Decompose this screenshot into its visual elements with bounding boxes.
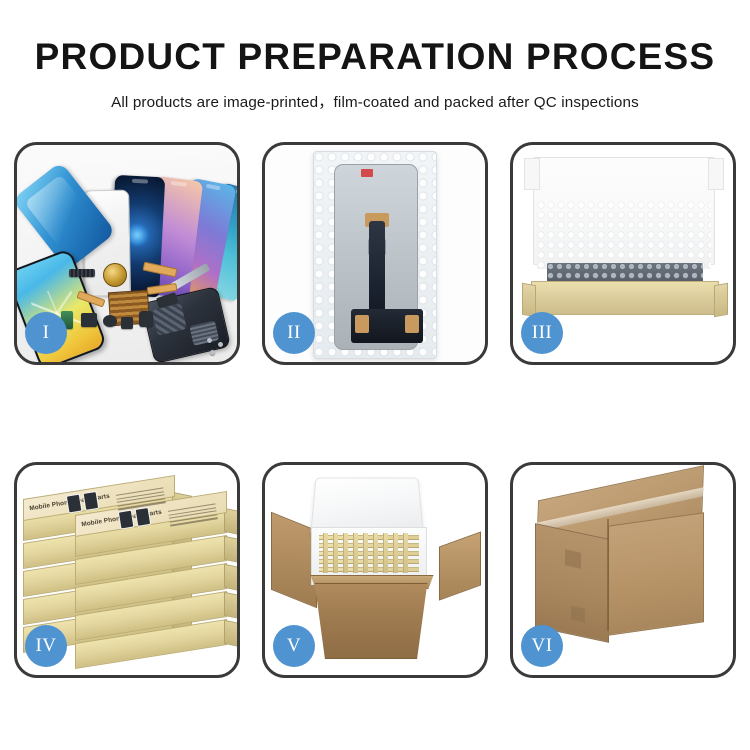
small-part [121, 317, 133, 329]
logic-board-part [351, 309, 423, 343]
screws-group [205, 336, 231, 358]
carton-flap-tab [565, 549, 581, 568]
process-step-card-5: V [262, 462, 488, 678]
step-badge-2: II [273, 312, 315, 354]
small-part [139, 311, 153, 327]
carton-right-face [608, 512, 704, 635]
speaker-coil-part [103, 263, 127, 287]
process-steps-grid: I II [0, 0, 750, 750]
carton-corner-seam [607, 519, 609, 631]
foam-padding-sheet [537, 201, 711, 269]
infographic-page: PRODUCT PREPARATION PROCESS All products… [0, 0, 750, 750]
small-part [103, 315, 117, 327]
step-badge-4: IV [25, 625, 67, 667]
process-step-card-2: II [262, 142, 488, 365]
process-step-card-3: III [510, 142, 736, 365]
gold-boxes-inside [319, 533, 419, 573]
carton-flap-tab [571, 606, 585, 623]
step-badge-3: III [521, 312, 563, 354]
screen-assembly [334, 164, 418, 350]
process-step-card-6: VI [510, 462, 736, 678]
step-badge-6: VI [521, 625, 563, 667]
bubble-wrap-sleeve [313, 151, 437, 359]
carton-body [307, 583, 435, 659]
process-step-card-1: I [14, 142, 240, 365]
small-part [69, 269, 95, 277]
gold-kraft-box [531, 281, 719, 315]
small-part [81, 313, 97, 327]
step-badge-5: V [273, 625, 315, 667]
process-step-card-4: Mobile Phone Spare Parts Mobile Phone Sp… [14, 462, 240, 678]
step-badge-1: I [25, 312, 67, 354]
red-label-sticker [361, 169, 373, 177]
carton-flap-right [439, 531, 481, 600]
